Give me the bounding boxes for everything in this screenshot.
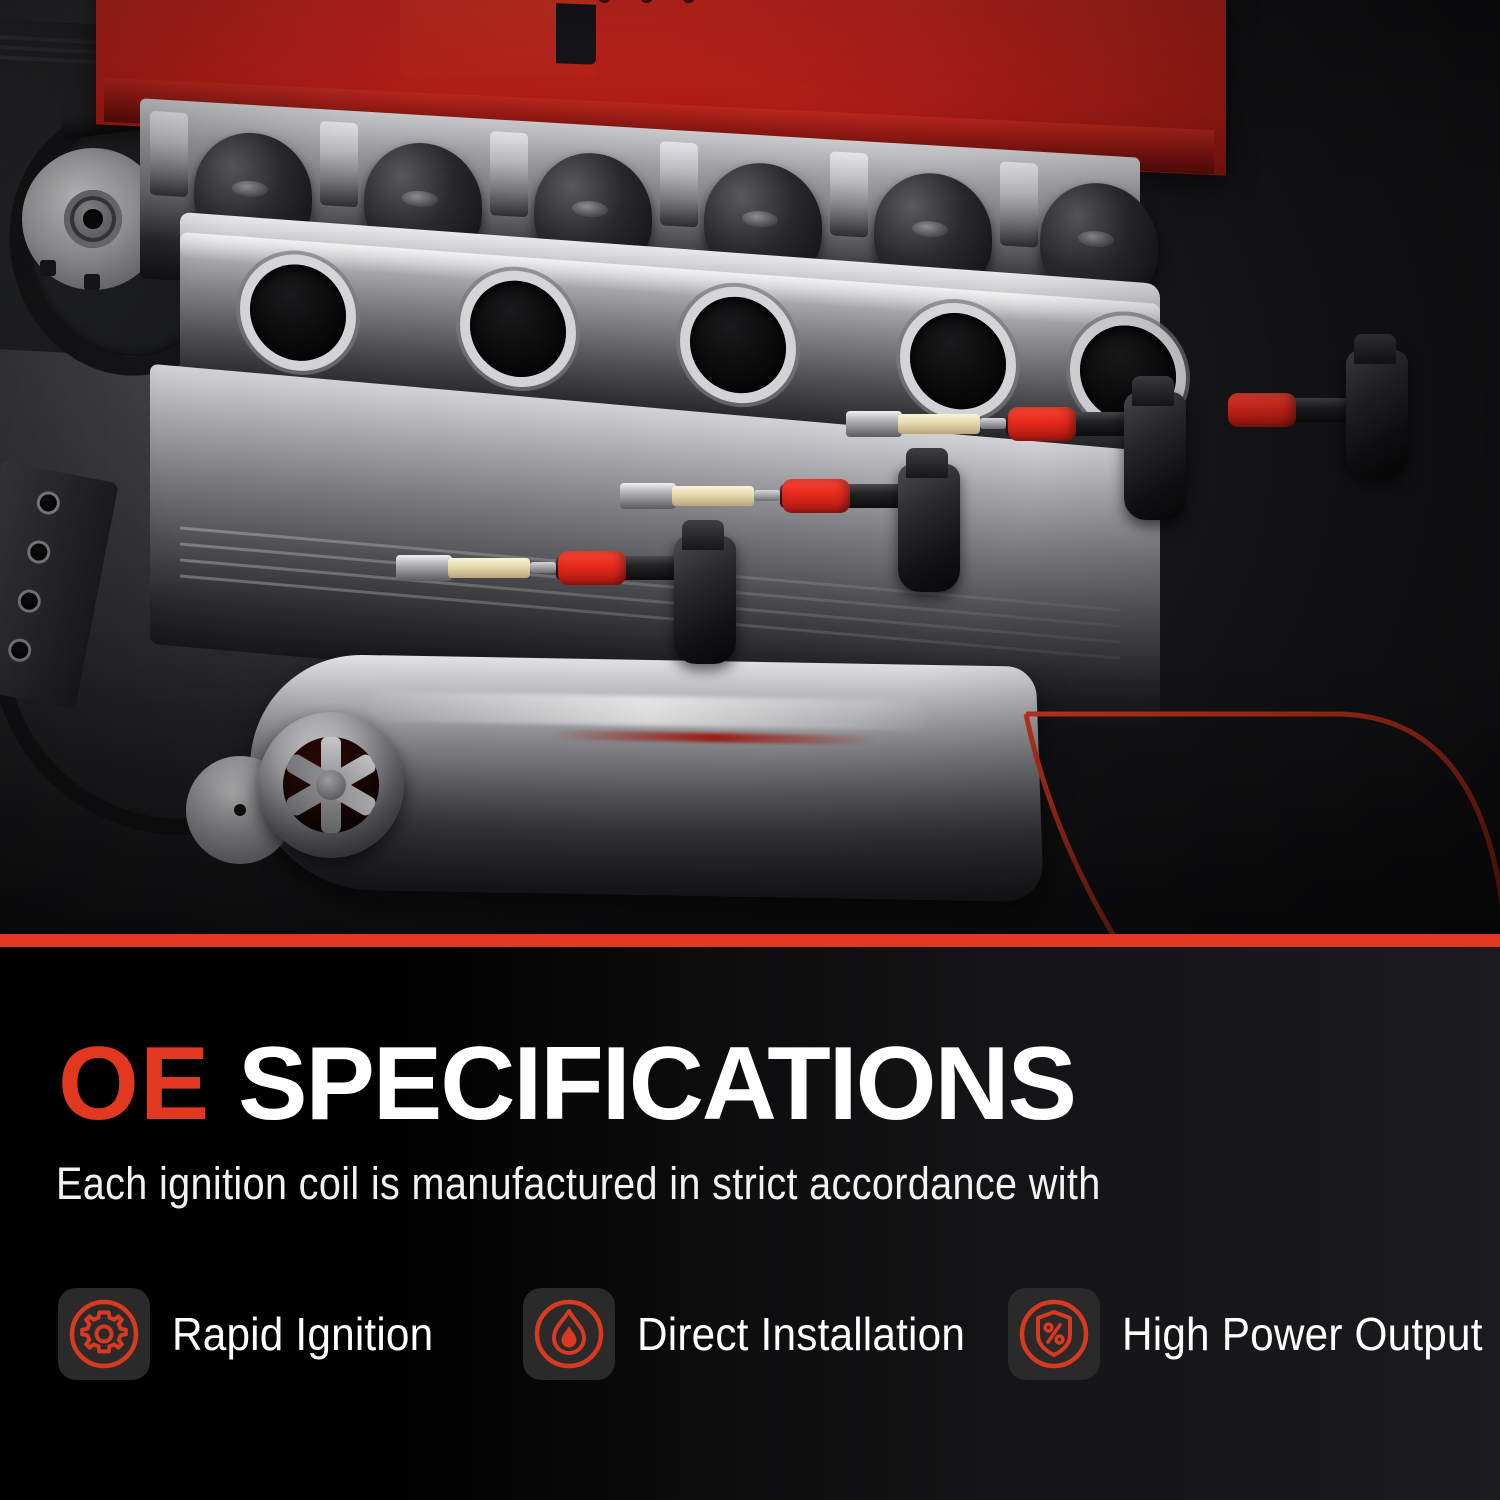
coil-body [1346,350,1408,478]
pulley-hub [316,770,346,800]
coil-red-boot [1228,393,1296,427]
oil-pan-red-reflection [548,730,878,745]
feature-label: High Power Output [1122,1311,1483,1357]
coil-body [898,464,960,592]
spark-plug-metal [620,483,676,509]
spark-plug-tip [754,490,780,501]
spark-plug-tip [530,562,556,573]
cam-cap [150,111,188,197]
page-title: OE SPECIFICATIONS [58,1032,1075,1136]
orange-divider-bar [0,934,1500,947]
coil-body [674,536,736,664]
spark-plug-tip [980,418,1006,429]
feature-item-rapid-ignition: Rapid Ignition [58,1286,456,1382]
spark-plug-ceramic [448,558,530,578]
valve-cover-notch [556,3,596,64]
coil-red-boot [782,479,850,513]
feature-icon-tile [523,1288,615,1380]
orange-corner-arc [1020,700,1500,937]
engine-hero-image [0,0,1500,937]
feature-list: Rapid Ignition Direct Installation [0,1286,1500,1382]
intake-port [250,261,346,364]
cam-cap [1000,161,1038,247]
spark-plug-ceramic [898,414,980,434]
intake-port [690,293,786,396]
shield-percent-in-circle-icon [1017,1297,1091,1371]
feature-icon-tile [58,1288,150,1380]
subtitle: Each ignition coil is manufactured in st… [56,1158,1101,1210]
intake-port [470,277,566,380]
product-feature-banner: OE SPECIFICATIONS Each ignition coil is … [0,0,1500,1500]
cam-cap [320,121,358,207]
feature-item-high-power-output: High Power Output [1008,1286,1500,1382]
crank-pulley [258,712,404,858]
feature-label: Rapid Ignition [172,1311,433,1357]
valve-cover-bolt-holes [598,0,718,12]
coil-body [1124,392,1186,520]
sprocket-cutout [84,274,100,290]
spark-plug-metal [846,411,902,437]
spark-plug-metal [396,555,452,581]
cam-cap [490,131,528,217]
gear-in-circle-icon [67,1297,141,1371]
spark-plug-ceramic [672,486,754,506]
feature-icon-tile [1008,1288,1100,1380]
title-highlight: OE [58,1026,210,1142]
cam-cap [660,141,698,227]
flame-in-circle-icon [532,1297,606,1371]
coil-red-boot [1008,407,1076,441]
coil-red-boot [558,551,626,585]
cam-cap [830,151,868,237]
feature-label: Direct Installation [637,1311,965,1357]
title-rest: SPECIFICATIONS [238,1026,1075,1142]
sprocket-cutout [40,260,56,276]
feature-item-direct-installation: Direct Installation [523,1286,994,1382]
sprocket-bore [83,209,103,229]
intake-port [910,310,1006,413]
oil-pan-highlight [367,691,928,731]
